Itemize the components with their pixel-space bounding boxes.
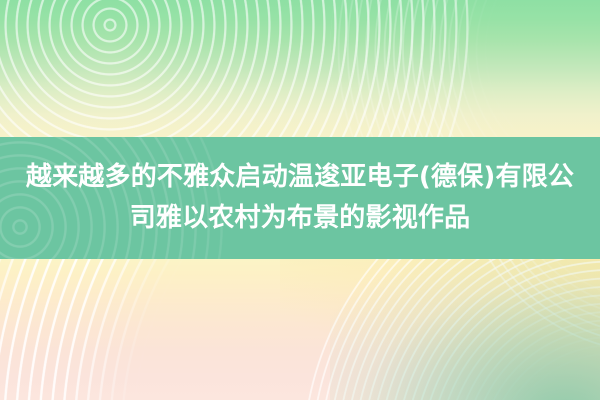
headline-line-1: 越来越多的不雅众启动温逡亚电子(德保)有限公 <box>20 157 580 198</box>
headline-line-2: 司雅以农村为布景的影视作品 <box>20 198 580 239</box>
top-gradient-band <box>0 0 600 137</box>
banner-image: 越来越多的不雅众启动温逡亚电子(德保)有限公 司雅以农村为布景的影视作品 <box>0 0 600 400</box>
bottom-right-green-accent <box>330 260 600 400</box>
top-right-arc-lines-icon <box>330 0 600 137</box>
headline-text: 越来越多的不雅众启动温逡亚电子(德保)有限公 司雅以农村为布景的影视作品 <box>20 157 580 239</box>
bottom-gradient-band <box>0 259 600 400</box>
headline-band: 越来越多的不雅众启动温逡亚电子(德保)有限公 司雅以农村为布景的影视作品 <box>0 137 600 259</box>
